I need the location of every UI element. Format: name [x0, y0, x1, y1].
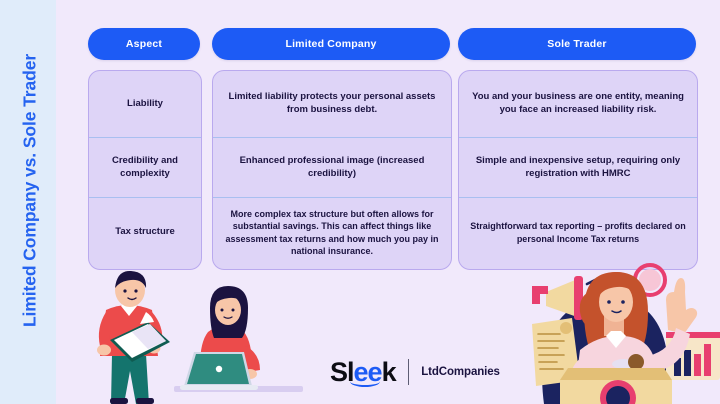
table-cell-aspect-2: Tax structure [89, 197, 201, 267]
table-cell-limited-1: Enhanced professional image (increased c… [213, 137, 451, 197]
sleek-logo-part2: k [382, 357, 396, 387]
table-cell-limited-2: More complex tax structure but often all… [213, 197, 451, 267]
sidebar-strip: Limited Company vs. Sole Trader [0, 0, 56, 404]
table-cell-aspect-1: Credibility and complexity [89, 137, 201, 197]
brand-divider [408, 359, 410, 385]
table-cell-aspect-0: Liability [89, 71, 201, 137]
table-cell-sole-0: You and your business are one entity, me… [459, 71, 697, 137]
table-cell-sole-1: Simple and inexpensive setup, requiring … [459, 137, 697, 197]
brand-lockup: Sleek LtdCompanies [330, 355, 500, 389]
page-title: Limited Company vs. Sole Trader [20, 1, 41, 381]
smile-icon [350, 376, 380, 387]
illustration-business-promotion [488, 258, 720, 404]
illustration-colleagues [88, 268, 303, 404]
table-cell-limited-0: Limited liability protects your personal… [213, 71, 451, 137]
column-header-limited-company: Limited Company [212, 28, 450, 60]
sleek-logo: Sleek [330, 359, 396, 386]
column-header-sole-trader: Sole Trader [458, 28, 696, 60]
column-sole-trader: You and your business are one entity, me… [458, 70, 698, 270]
column-header-aspect: Aspect [88, 28, 200, 60]
column-aspect: Liability Credibility and complexity Tax… [88, 70, 202, 270]
table-cell-sole-2: Straightforward tax reporting – profits … [459, 197, 697, 267]
partner-name: LtdCompanies [421, 366, 500, 378]
slide-canvas: Limited Company vs. Sole Trader Aspect L… [0, 0, 720, 404]
column-limited-company: Limited liability protects your personal… [212, 70, 452, 270]
